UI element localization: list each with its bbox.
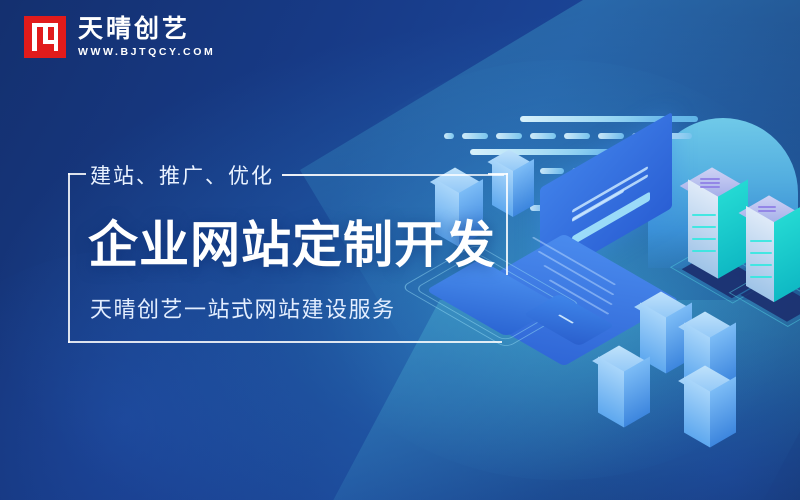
data-bar-mid xyxy=(470,149,660,155)
hero-subline: 天晴创艺一站式网站建设服务 xyxy=(90,292,396,324)
tagline-rule xyxy=(282,174,504,176)
dash-13 xyxy=(560,205,582,211)
phone-device xyxy=(523,294,614,347)
laptop-key-line-3 xyxy=(543,265,613,305)
dash-12 xyxy=(530,205,552,211)
dash-4 xyxy=(530,133,556,139)
logo-company-name: 天晴创艺 xyxy=(78,16,215,42)
dash-1 xyxy=(444,133,454,139)
dash-7 xyxy=(632,133,658,139)
hero-headline: 企业网站定制开发 xyxy=(88,205,496,277)
logo-text: 天晴创艺 WWW.BJTQCY.COM xyxy=(78,16,215,57)
dome-arc-icon xyxy=(648,118,798,268)
laptop-code-line-2 xyxy=(572,174,648,221)
dash-9 xyxy=(540,168,564,174)
data-bar-top xyxy=(520,116,698,122)
dash-6 xyxy=(598,133,624,139)
bracket-left-vertical xyxy=(68,173,70,343)
dash-2 xyxy=(462,133,488,139)
dash-5 xyxy=(564,133,590,139)
dash-8 xyxy=(666,133,692,139)
ambient-glow-bottom-right xyxy=(560,330,800,500)
laptop-code-line-1 xyxy=(572,166,648,213)
laptop-screen xyxy=(540,112,672,284)
laptop-key-line-2 xyxy=(537,251,614,296)
dash-10 xyxy=(572,168,596,174)
dash-11 xyxy=(604,168,628,174)
laptop-code-line-4 xyxy=(572,191,650,245)
bracket-bottom-rule xyxy=(68,341,502,343)
site-logo[interactable]: 天晴创艺 WWW.BJTQCY.COM xyxy=(24,16,215,58)
laptop-key-line-1 xyxy=(532,237,616,286)
laptop-code-line-3 xyxy=(572,189,624,222)
bracket-left-top-tick xyxy=(68,173,86,175)
promo-banner: 天晴创艺 WWW.BJTQCY.COM 建站、推广、优化 企业网站定制开发 天晴… xyxy=(0,0,800,500)
phone-speaker xyxy=(558,314,574,323)
laptop-key-line-4 xyxy=(549,279,610,314)
logo-website-url: WWW.BJTQCY.COM xyxy=(78,46,215,58)
hero-tagline: 建站、推广、优化 xyxy=(90,160,274,190)
bracket-right-vertical xyxy=(506,173,508,275)
ambient-glow-left xyxy=(0,250,340,500)
logo-mark-icon xyxy=(24,16,66,58)
ground-plane-secondary xyxy=(264,300,800,500)
dash-3 xyxy=(496,133,522,139)
